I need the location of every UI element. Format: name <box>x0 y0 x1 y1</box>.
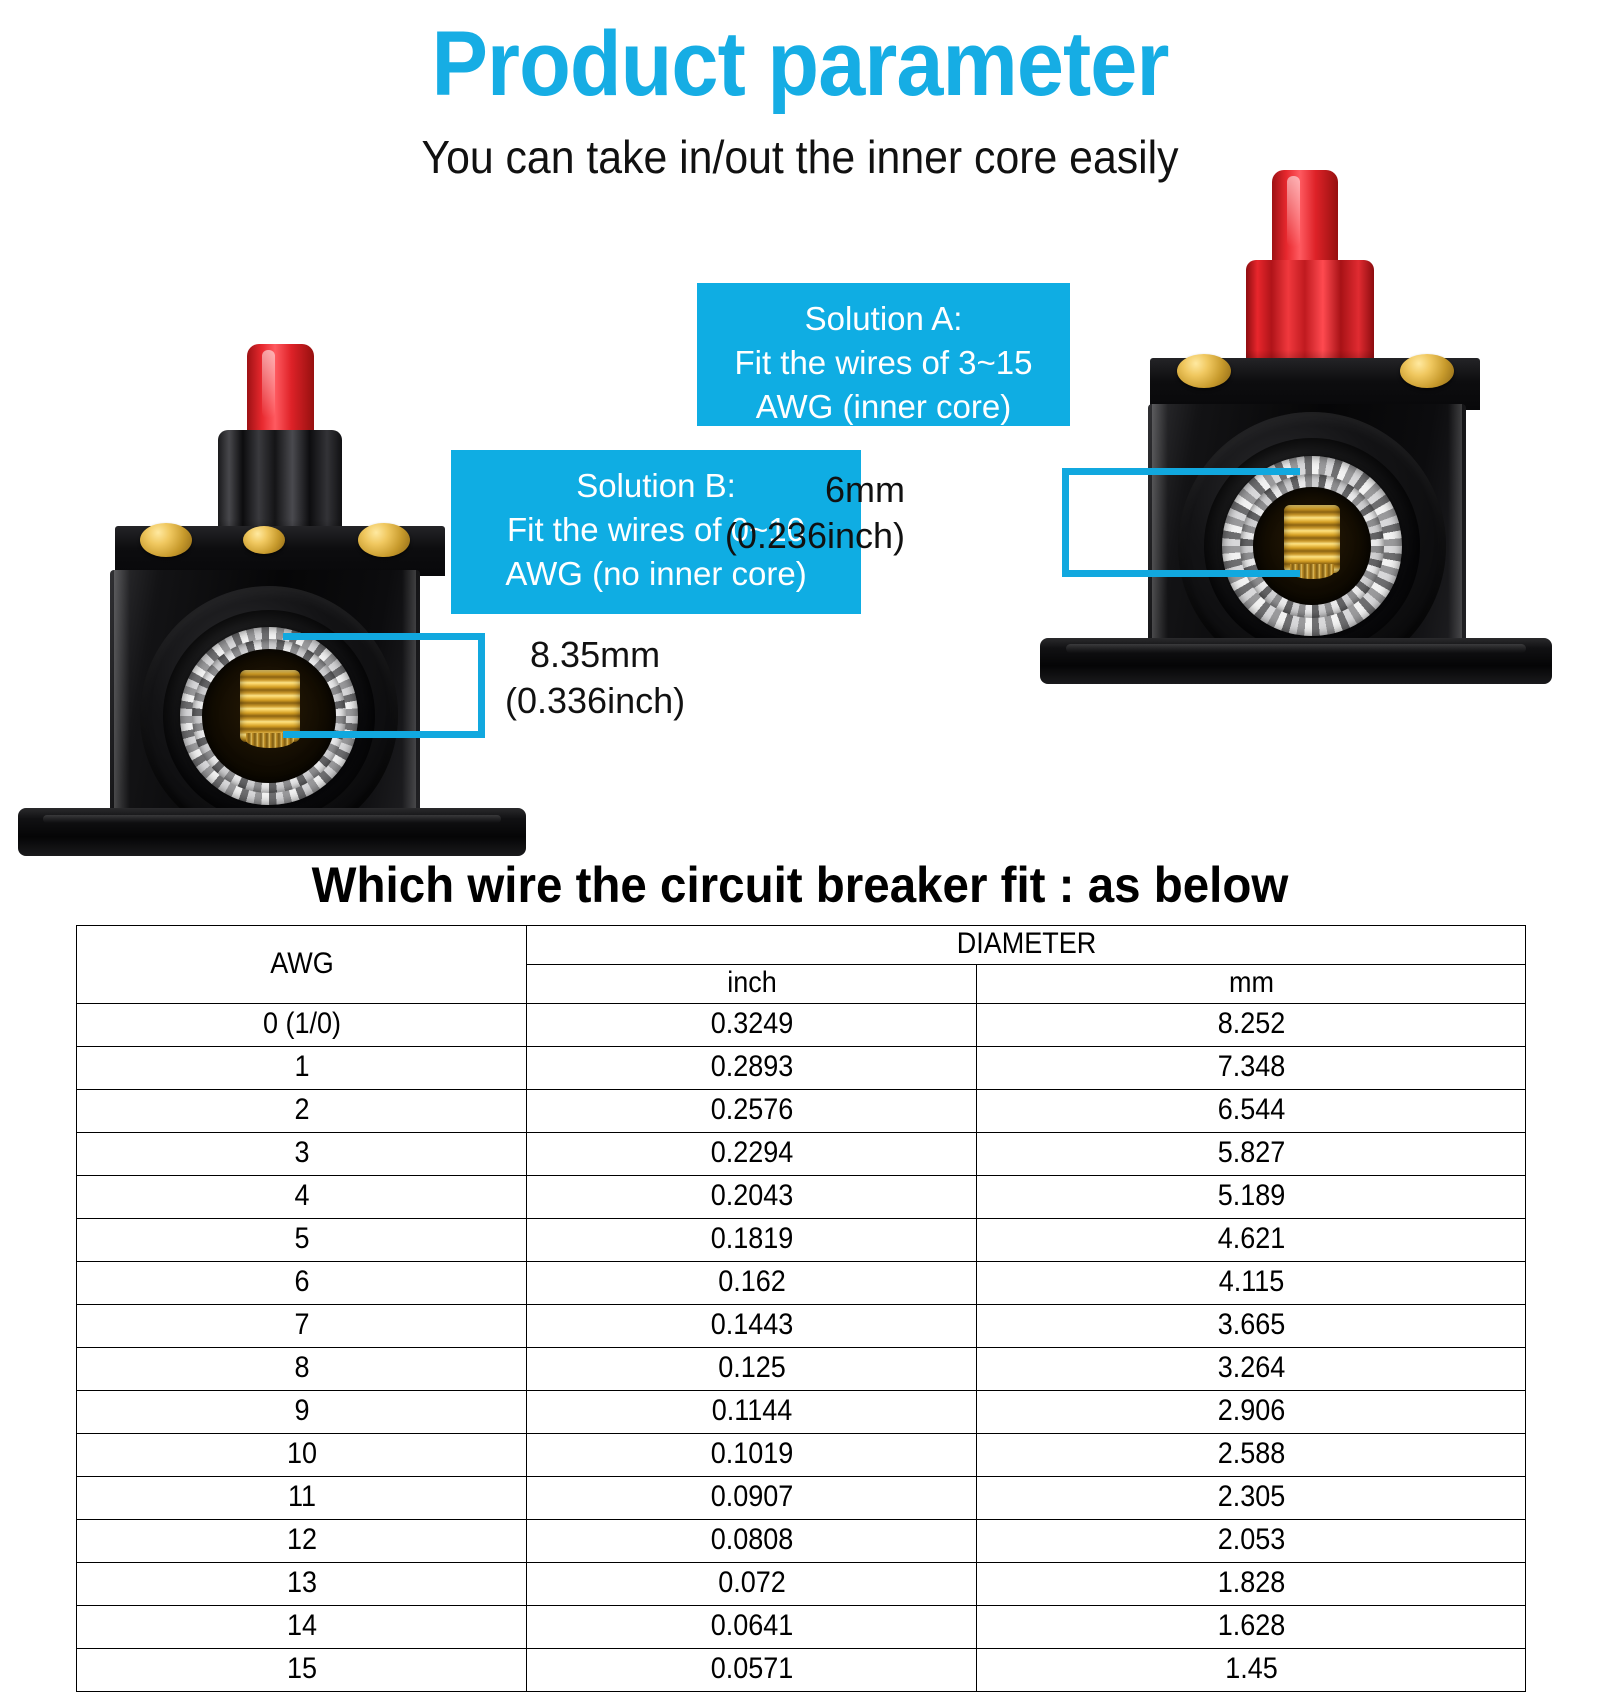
cell-inch: 0.1019 <box>549 1434 954 1477</box>
table-row: 120.08082.053 <box>77 1520 1526 1563</box>
gold-terminal-screw-right <box>1284 505 1340 573</box>
reset-button-cap-left <box>247 344 314 436</box>
table-row: 30.22945.827 <box>77 1133 1526 1176</box>
cell-awg: 5 <box>99 1219 504 1262</box>
brass-screw-right-2 <box>1400 354 1454 388</box>
cell-awg: 13 <box>99 1563 504 1606</box>
brass-screw-left-2 <box>243 526 285 554</box>
cell-mm: 1.828 <box>1004 1563 1498 1606</box>
cell-mm: 2.906 <box>1004 1391 1498 1434</box>
dimension-leader-top-right <box>1062 468 1300 475</box>
table-row: 20.25766.544 <box>77 1090 1526 1133</box>
brass-screw-right-1 <box>1177 354 1231 388</box>
cell-awg: 3 <box>99 1133 504 1176</box>
dimension-bracket-left <box>478 633 485 738</box>
table-row: 90.11442.906 <box>77 1391 1526 1434</box>
cell-inch: 0.2043 <box>549 1176 954 1219</box>
cell-mm: 2.053 <box>1004 1520 1498 1563</box>
mounting-foot-left <box>18 808 526 856</box>
cell-mm: 1.628 <box>1004 1606 1498 1649</box>
cell-awg: 7 <box>99 1305 504 1348</box>
dimension-leader-bottom-left <box>283 731 485 738</box>
cell-mm: 5.827 <box>1004 1133 1498 1176</box>
cell-mm: 7.348 <box>1004 1047 1498 1090</box>
cell-inch: 0.125 <box>549 1348 954 1391</box>
table-row: 70.14433.665 <box>77 1305 1526 1348</box>
cell-inch: 0.3249 <box>549 1004 954 1047</box>
cell-inch: 0.2294 <box>549 1133 954 1176</box>
table-row: 10.28937.348 <box>77 1047 1526 1090</box>
brass-screw-left-3 <box>358 523 410 557</box>
cell-mm: 2.305 <box>1004 1477 1498 1520</box>
cell-awg: 4 <box>99 1176 504 1219</box>
cell-inch: 0.2893 <box>549 1047 954 1090</box>
page-title: Product parameter <box>64 18 1536 110</box>
cell-awg: 15 <box>99 1649 504 1692</box>
dimension-bracket-right <box>1062 468 1069 577</box>
cell-awg: 6 <box>99 1262 504 1305</box>
header-diameter: DIAMETER <box>576 926 1475 965</box>
table-row: 150.05711.45 <box>77 1649 1526 1692</box>
cell-awg: 8 <box>99 1348 504 1391</box>
cell-mm: 3.665 <box>1004 1305 1498 1348</box>
cell-mm: 3.264 <box>1004 1348 1498 1391</box>
cell-awg: 0 (1/0) <box>99 1004 504 1047</box>
product-image-right <box>1000 160 1580 680</box>
cell-inch: 0.2576 <box>549 1090 954 1133</box>
brass-screw-left-1 <box>140 523 192 557</box>
cell-mm: 8.252 <box>1004 1004 1498 1047</box>
table-row: 110.09072.305 <box>77 1477 1526 1520</box>
mounting-foot-right <box>1040 638 1552 684</box>
header-awg: AWG <box>99 926 504 1004</box>
table-header-row-1: AWG DIAMETER <box>77 926 1526 965</box>
product-parameter-page: Product parameter You can take in/out th… <box>0 0 1600 1600</box>
cell-awg: 2 <box>99 1090 504 1133</box>
table-row: 50.18194.621 <box>77 1219 1526 1262</box>
cell-mm: 4.621 <box>1004 1219 1498 1262</box>
cell-mm: 5.189 <box>1004 1176 1498 1219</box>
cell-awg: 9 <box>99 1391 504 1434</box>
table-row: 40.20435.189 <box>77 1176 1526 1219</box>
cell-mm: 1.45 <box>1004 1649 1498 1692</box>
cell-inch: 0.0641 <box>549 1606 954 1649</box>
cell-inch: 0.1443 <box>549 1305 954 1348</box>
awg-diameter-table: AWG DIAMETER inch mm 0 (1/0)0.32498.2521… <box>76 925 1526 1692</box>
cell-inch: 0.0907 <box>549 1477 954 1520</box>
table-row: 0 (1/0)0.32498.252 <box>77 1004 1526 1047</box>
cell-awg: 14 <box>99 1606 504 1649</box>
dimension-leader-top-left <box>283 633 485 640</box>
cell-inch: 0.1144 <box>549 1391 954 1434</box>
callout-solution-a: Solution A: Fit the wires of 3~15 AWG (i… <box>697 283 1070 426</box>
reset-button-cap-right <box>1272 170 1338 266</box>
cell-inch: 0.072 <box>549 1563 954 1606</box>
dimension-label-right: 6mm (0.236inch) <box>725 467 905 559</box>
cell-mm: 6.544 <box>1004 1090 1498 1133</box>
cell-mm: 4.115 <box>1004 1262 1498 1305</box>
table-section-heading: Which wire the circuit breaker fit : as … <box>40 860 1560 910</box>
table-row: 100.10192.588 <box>77 1434 1526 1477</box>
table-row: 80.1253.264 <box>77 1348 1526 1391</box>
cell-awg: 10 <box>99 1434 504 1477</box>
table-row: 140.06411.628 <box>77 1606 1526 1649</box>
cell-awg: 11 <box>99 1477 504 1520</box>
cell-mm: 2.588 <box>1004 1434 1498 1477</box>
dimension-label-left: 8.35mm (0.336inch) <box>505 632 685 724</box>
header-inch: inch <box>549 965 954 1004</box>
cell-inch: 0.0808 <box>549 1520 954 1563</box>
cell-inch: 0.162 <box>549 1262 954 1305</box>
cell-inch: 0.0571 <box>549 1649 954 1692</box>
cell-inch: 0.1819 <box>549 1219 954 1262</box>
table-row: 130.0721.828 <box>77 1563 1526 1606</box>
cell-awg: 12 <box>99 1520 504 1563</box>
dimension-leader-bottom-right <box>1062 570 1300 577</box>
cell-awg: 1 <box>99 1047 504 1090</box>
header-mm: mm <box>1004 965 1498 1004</box>
table-row: 60.1624.115 <box>77 1262 1526 1305</box>
